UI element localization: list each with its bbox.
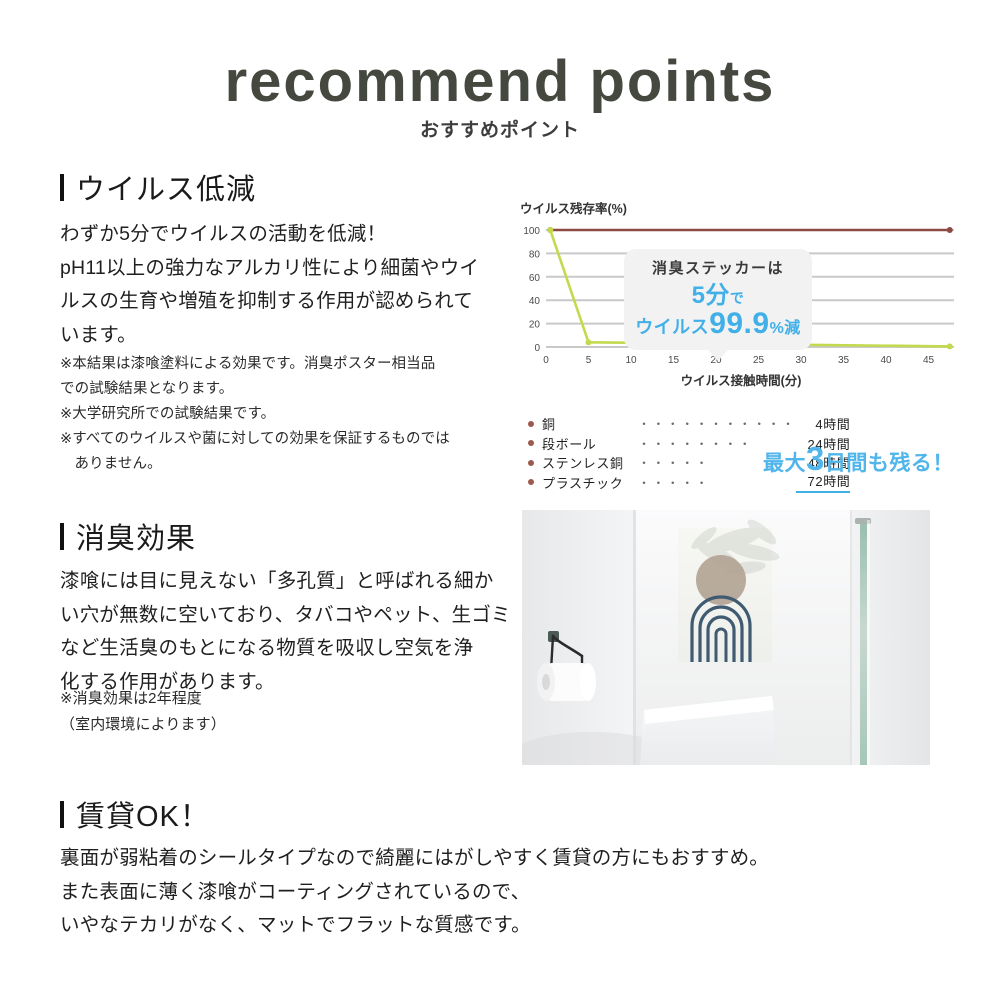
body-line: pH11以上の強力なアルカリ性により細菌やウイ [60, 252, 510, 286]
legend-value: 4時間 [796, 414, 850, 433]
note-line: ※すべてのウイルスや菌に対しての効果を保証するものでは [60, 427, 520, 452]
max-days-annotation: 最大3日間も残る！ [763, 440, 954, 478]
section-title: ウイルス低減 [76, 166, 256, 208]
svg-text:40: 40 [880, 355, 892, 366]
photo-svg [522, 510, 930, 765]
callout-bubble: 消臭ステッカーは 5分で ウイルス99.9%減 [624, 249, 812, 350]
callout-line-3: ウイルス99.9%減 [628, 308, 808, 340]
max-days-number: 3 [806, 440, 825, 477]
callout-virus-word: ウイルス [635, 317, 709, 337]
svg-text:25: 25 [753, 355, 765, 366]
note-line: での試験結果となります。 [60, 377, 520, 402]
legend-bullet-icon [528, 479, 534, 485]
page-subtitle: おすすめポイント [0, 115, 1000, 142]
heading-bar-icon [60, 801, 64, 828]
note-line: ありません。 [60, 452, 520, 477]
body-line: 漆喰には目に見えない「多孔質」と呼ばれる細か [60, 565, 520, 599]
callout-minutes-suffix: で [730, 290, 745, 306]
legend-label: 段ボール [542, 434, 638, 453]
note-line: ※本結果は漆喰塗料による効果です。消臭ポスター相当品 [60, 352, 520, 377]
recommend-points-page: recommend points おすすめポイント ウイルス低減 わずか5分でウ… [0, 0, 1000, 1000]
svg-text:10: 10 [625, 355, 637, 366]
section-body-rental-ok: 裏面が弱粘着のシールタイプなので綺麗にはがしやすく賃貸の方にもおすすめ。 また表… [60, 842, 940, 943]
svg-text:5: 5 [586, 355, 592, 366]
callout-line-1: 消臭ステッカーは [628, 258, 808, 281]
svg-text:35: 35 [838, 355, 850, 366]
body-line: い穴が無数に空いており、タバコやペット、生ゴミ [60, 599, 520, 633]
legend-bullet-icon [528, 460, 534, 466]
heading-bar-icon [60, 523, 64, 550]
heading-bar-icon [60, 174, 64, 201]
svg-text:20: 20 [529, 320, 541, 331]
body-line: など生活臭のもとになる物質を吸収し空気を浄 [60, 632, 520, 666]
section-notes-deodorizing: ※消臭効果は2年程度 （室内環境によります） [60, 686, 520, 738]
page-title: recommend points [0, 48, 1000, 115]
callout-minutes: 5分 [692, 282, 730, 309]
section-body-deodorizing: 漆喰には目に見えない「多孔質」と呼ばれる細か い穴が無数に空いており、タバコやペ… [60, 565, 520, 699]
section-heading-deodorizing: 消臭効果 [60, 515, 196, 557]
section-notes-virus-reduction: ※本結果は漆喰塗料による効果です。消臭ポスター相当品 での試験結果となります。 … [60, 352, 520, 477]
svg-text:0: 0 [534, 343, 540, 354]
toilet-interior-photo [522, 510, 930, 765]
svg-text:100: 100 [523, 226, 540, 237]
section-heading-virus-reduction: ウイルス低減 [60, 166, 256, 208]
body-line: います。 [60, 319, 510, 353]
body-line: ルスの生育や増殖を抑制する作用が認められて [60, 285, 510, 319]
svg-text:40: 40 [529, 296, 541, 307]
svg-text:60: 60 [529, 273, 541, 284]
chart-y-axis-label: ウイルス残存率(%) [520, 198, 627, 217]
section-title: 消臭効果 [76, 515, 196, 557]
svg-text:45: 45 [923, 355, 935, 366]
note-line: ※消臭効果は2年程度 [60, 686, 520, 712]
section-title: 賃貸OK！ [76, 793, 210, 835]
svg-text:0: 0 [543, 355, 549, 366]
legend-leader-dots: ・・・・・・・・・・・ [638, 415, 796, 432]
legend-label: 銅 [542, 414, 638, 433]
note-line: ※大学研究所での試験結果です。 [60, 402, 520, 427]
legend-label: プラスチック [542, 473, 638, 492]
legend-row: 銅 ・・・・・・・・・・・ 4時間 [528, 414, 850, 434]
legend-label: ステンレス銅 [542, 453, 638, 472]
legend-bullet-icon [528, 440, 534, 446]
legend-bullet-icon [528, 421, 534, 427]
body-line: また表面に薄く漆喰がコーティングされているので、 [60, 876, 940, 910]
svg-text:30: 30 [795, 355, 807, 366]
callout-percent-value: 99.9 [709, 307, 769, 340]
svg-text:80: 80 [529, 249, 541, 260]
section-heading-rental-ok: 賃貸OK！ [60, 793, 210, 835]
body-line: いやなテカリがなく、マットでフラットな質感です。 [60, 909, 940, 943]
callout-tail-icon [707, 349, 729, 361]
svg-text:15: 15 [668, 355, 680, 366]
callout-line-2: 5分で [628, 283, 808, 309]
max-days-prefix: 最大 [763, 452, 806, 475]
section-body-virus-reduction: わずか5分でウイルスの活動を低減！ pH11以上の強力なアルカリ性により細菌やウ… [60, 218, 510, 352]
max-days-suffix: 日間も残る！ [825, 452, 954, 475]
note-line: （室内環境によります） [60, 712, 520, 738]
body-line: わずか5分でウイルスの活動を低減！ [60, 218, 510, 252]
body-line: 裏面が弱粘着のシールタイプなので綺麗にはがしやすく賃貸の方にもおすすめ。 [60, 842, 940, 876]
callout-percent-suffix: %減 [770, 320, 801, 337]
